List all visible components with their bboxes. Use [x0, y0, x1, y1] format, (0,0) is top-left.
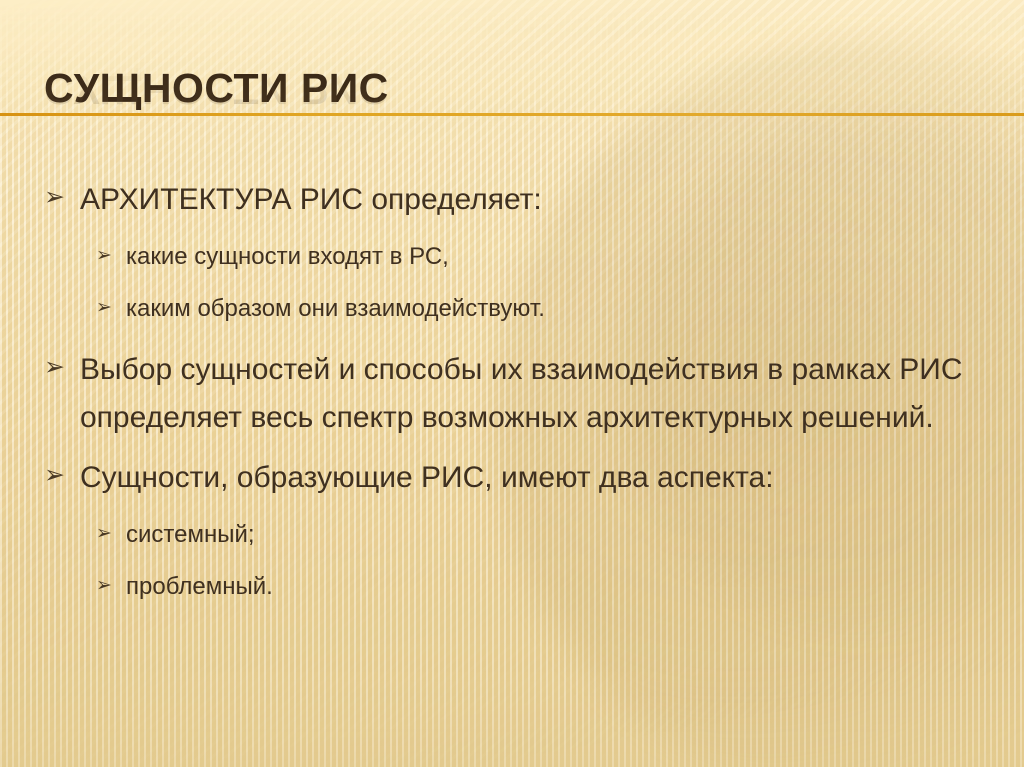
spacer — [0, 332, 1024, 346]
slide-body: ➢ АРХИТЕКТУРА РИС определяет: ➢ какие су… — [0, 176, 1024, 610]
arrow-bullet-icon: ➢ — [96, 514, 126, 543]
list-item: ➢ каким образом они взаимодействуют. — [0, 288, 1024, 330]
title-divider-rule — [0, 113, 1024, 116]
list-item-label: проблемный. — [126, 566, 986, 608]
list-item: ➢ проблемный. — [0, 566, 1024, 608]
spacer — [0, 280, 1024, 288]
list-item-label: Выбор сущностей и способы их взаимодейст… — [80, 346, 1010, 442]
arrow-bullet-icon: ➢ — [44, 346, 80, 380]
page-title: СУЩНОСТИ РИС — [44, 62, 389, 114]
list-item-label: системный; — [126, 514, 986, 556]
spacer — [0, 506, 1024, 514]
list-item: ➢ Сущности, образующие РИС, имеют два ас… — [0, 454, 1024, 502]
list-item: ➢ системный; — [0, 514, 1024, 556]
arrow-bullet-icon: ➢ — [44, 454, 80, 488]
list-item-label: АРХИТЕКТУРА РИС определяет: — [80, 176, 1010, 224]
list-item-label: Сущности, образующие РИС, имеют два аспе… — [80, 454, 1010, 502]
list-item-label: каким образом они взаимодействуют. — [126, 288, 986, 330]
spacer — [0, 446, 1024, 454]
presentation-slide: СУЩНОСТИ РИС СУЩНОСТИ РИС ➢ АРХИТЕКТУРА … — [0, 0, 1024, 767]
list-item: ➢ какие сущности входят в РС, — [0, 236, 1024, 278]
list-item: ➢ АРХИТЕКТУРА РИС определяет: — [0, 176, 1024, 224]
list-item: ➢ Выбор сущностей и способы их взаимодей… — [0, 346, 1024, 442]
arrow-bullet-icon: ➢ — [96, 236, 126, 265]
spacer — [0, 228, 1024, 236]
list-item-label: какие сущности входят в РС, — [126, 236, 986, 278]
spacer — [0, 558, 1024, 566]
arrow-bullet-icon: ➢ — [96, 288, 126, 317]
arrow-bullet-icon: ➢ — [44, 176, 80, 210]
arrow-bullet-icon: ➢ — [96, 566, 126, 595]
